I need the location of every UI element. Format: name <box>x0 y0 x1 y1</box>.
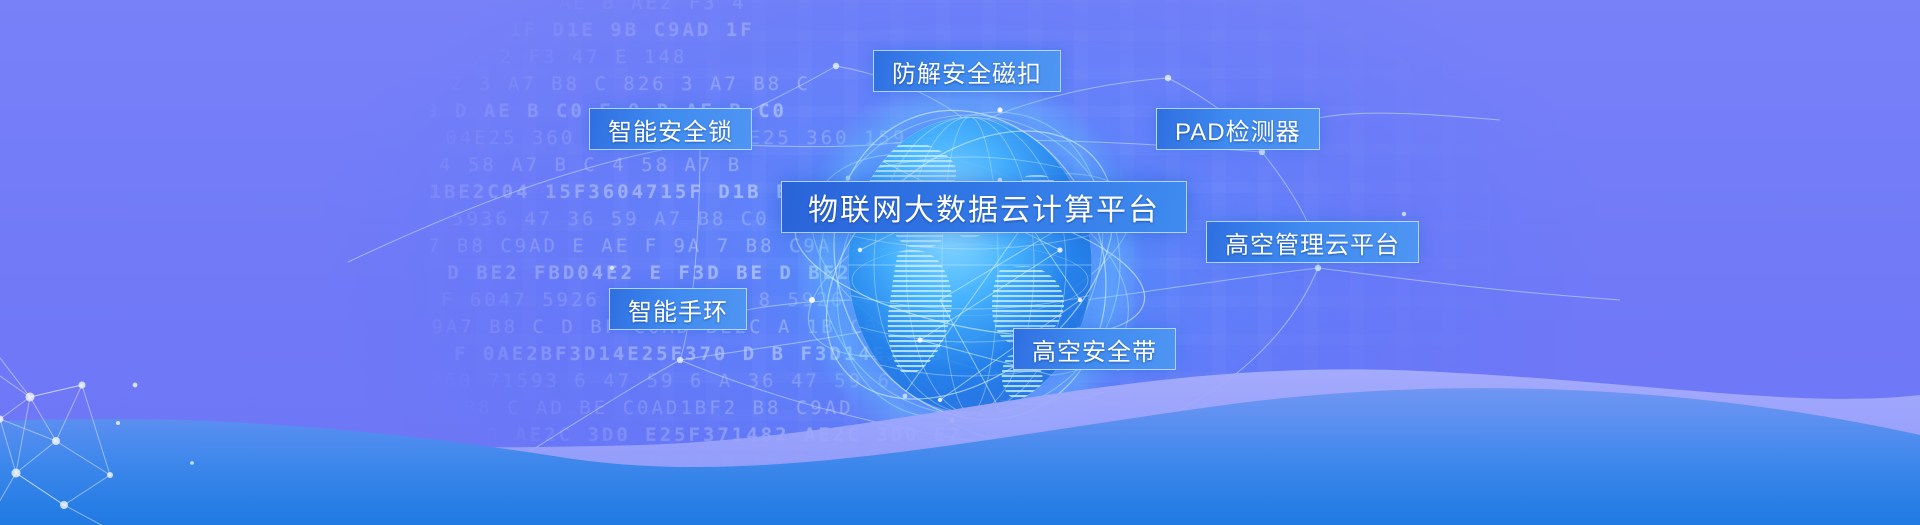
node-label-highalt-cloud-text: 高空管理云平台 <box>1225 225 1400 260</box>
node-label-smart-band-text: 智能手环 <box>628 292 728 327</box>
center-platform-label-text: 物联网大数据云计算平台 <box>808 185 1160 229</box>
node-label-safety-belt-text: 高空安全带 <box>1032 332 1157 367</box>
node-label-highalt-cloud[interactable]: 高空管理云平台 <box>1206 221 1419 263</box>
bottom-waves <box>0 245 1920 525</box>
node-label-magnet-text: 防解安全磁扣 <box>892 54 1042 89</box>
banner-root: 7 86 A B D AE B AE2 F3 4C9AD 1F D1E 9B C… <box>0 0 1920 525</box>
node-label-pad[interactable]: PAD检测器 <box>1156 108 1320 150</box>
node-label-safety-belt[interactable]: 高空安全带 <box>1013 328 1176 370</box>
node-label-pad-text: PAD检测器 <box>1175 112 1301 147</box>
node-label-magnet[interactable]: 防解安全磁扣 <box>873 50 1061 92</box>
corner-constellation <box>0 345 260 525</box>
node-label-smart-band[interactable]: 智能手环 <box>609 288 747 330</box>
node-label-lock-text: 智能安全锁 <box>608 112 733 147</box>
center-platform-label[interactable]: 物联网大数据云计算平台 <box>781 181 1187 233</box>
node-label-lock[interactable]: 智能安全锁 <box>589 108 752 150</box>
